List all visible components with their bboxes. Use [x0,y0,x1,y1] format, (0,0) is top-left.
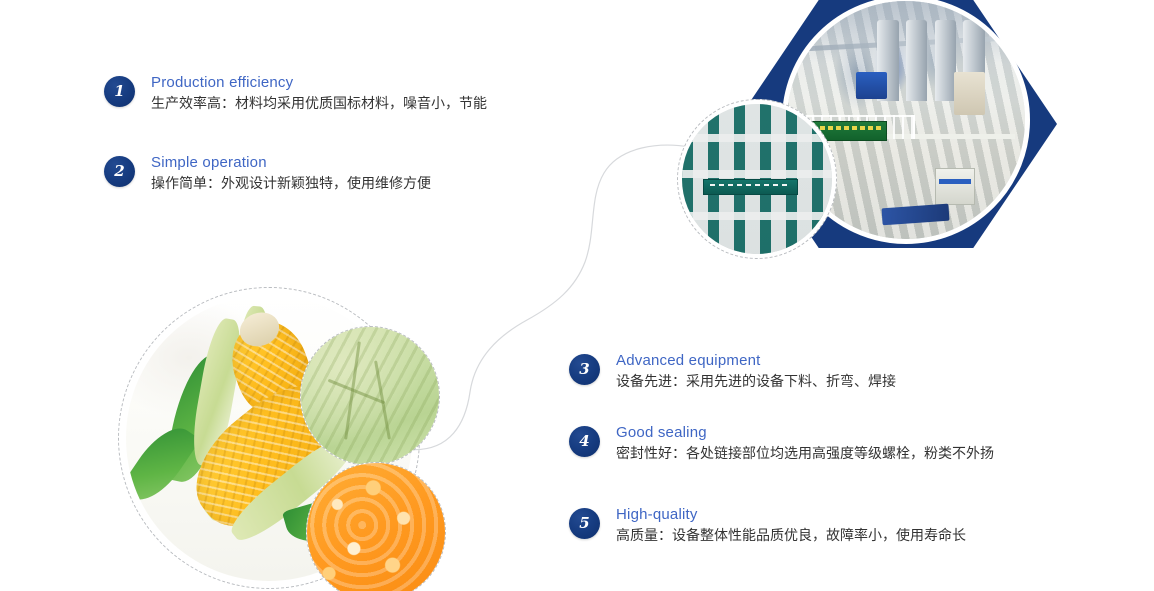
feature-item-5: 5 High-quality 高质量：设备整体性能品质优良，故障率小，使用寿命长 [569,506,966,546]
hexagon-photo-group [720,0,1070,262]
feature-heading-3: Advanced equipment [616,352,896,370]
feature-number-badge-4: 4 [569,426,600,457]
feature-body-2: 操作简单：外观设计新颖独特，使用维修方便 [151,174,431,194]
feature-item-1: 1 Production efficiency 生产效率高：材料均采用优质国标材… [104,74,487,114]
feature-text-4: Good sealing 密封性好：各处链接部位均选用高强度等级螺栓，粉类不外扬 [616,424,994,464]
feature-number-badge-2: 2 [104,156,135,187]
feature-showcase-page: 1 Production efficiency 生产效率高：材料均采用优质国标材… [0,0,1154,591]
teal-milling-machinery-image [682,104,832,254]
feature-text-1: Production efficiency 生产效率高：材料均采用优质国标材料，… [151,74,487,114]
feature-number-badge-5: 5 [569,508,600,539]
feature-item-3: 3 Advanced equipment 设备先进：采用先进的设备下料、折弯、焊… [569,352,896,392]
feature-text-5: High-quality 高质量：设备整体性能品质优良，故障率小，使用寿命长 [616,506,966,546]
feature-text-3: Advanced equipment 设备先进：采用先进的设备下料、折弯、焊接 [616,352,896,392]
feature-heading-1: Production efficiency [151,74,487,92]
green-paste-photo [300,326,440,466]
feature-number-badge-3: 3 [569,354,600,385]
feature-body-3: 设备先进：采用先进的设备下料、折弯、焊接 [616,372,896,392]
feature-item-4: 4 Good sealing 密封性好：各处链接部位均选用高强度等级螺栓，粉类不… [569,424,994,464]
orange-corn-kernels-image [307,463,445,591]
feature-body-1: 生产效率高：材料均采用优质国标材料，噪音小，节能 [151,94,487,114]
feature-heading-2: Simple operation [151,154,431,172]
feature-heading-4: Good sealing [616,424,994,442]
green-pea-flour-image [301,327,439,465]
feature-number-badge-1: 1 [104,76,135,107]
feature-heading-5: High-quality [616,506,966,524]
feature-body-5: 高质量：设备整体性能品质优良，故障率小，使用寿命长 [616,526,966,546]
feature-item-2: 2 Simple operation 操作简单：外观设计新颖独特，使用维修方便 [104,154,431,194]
orange-kernels-photo [306,462,446,591]
machine-small-photo [677,99,837,259]
feature-text-2: Simple operation 操作简单：外观设计新颖独特，使用维修方便 [151,154,431,194]
feature-body-4: 密封性好：各处链接部位均选用高强度等级螺栓，粉类不外扬 [616,444,994,464]
